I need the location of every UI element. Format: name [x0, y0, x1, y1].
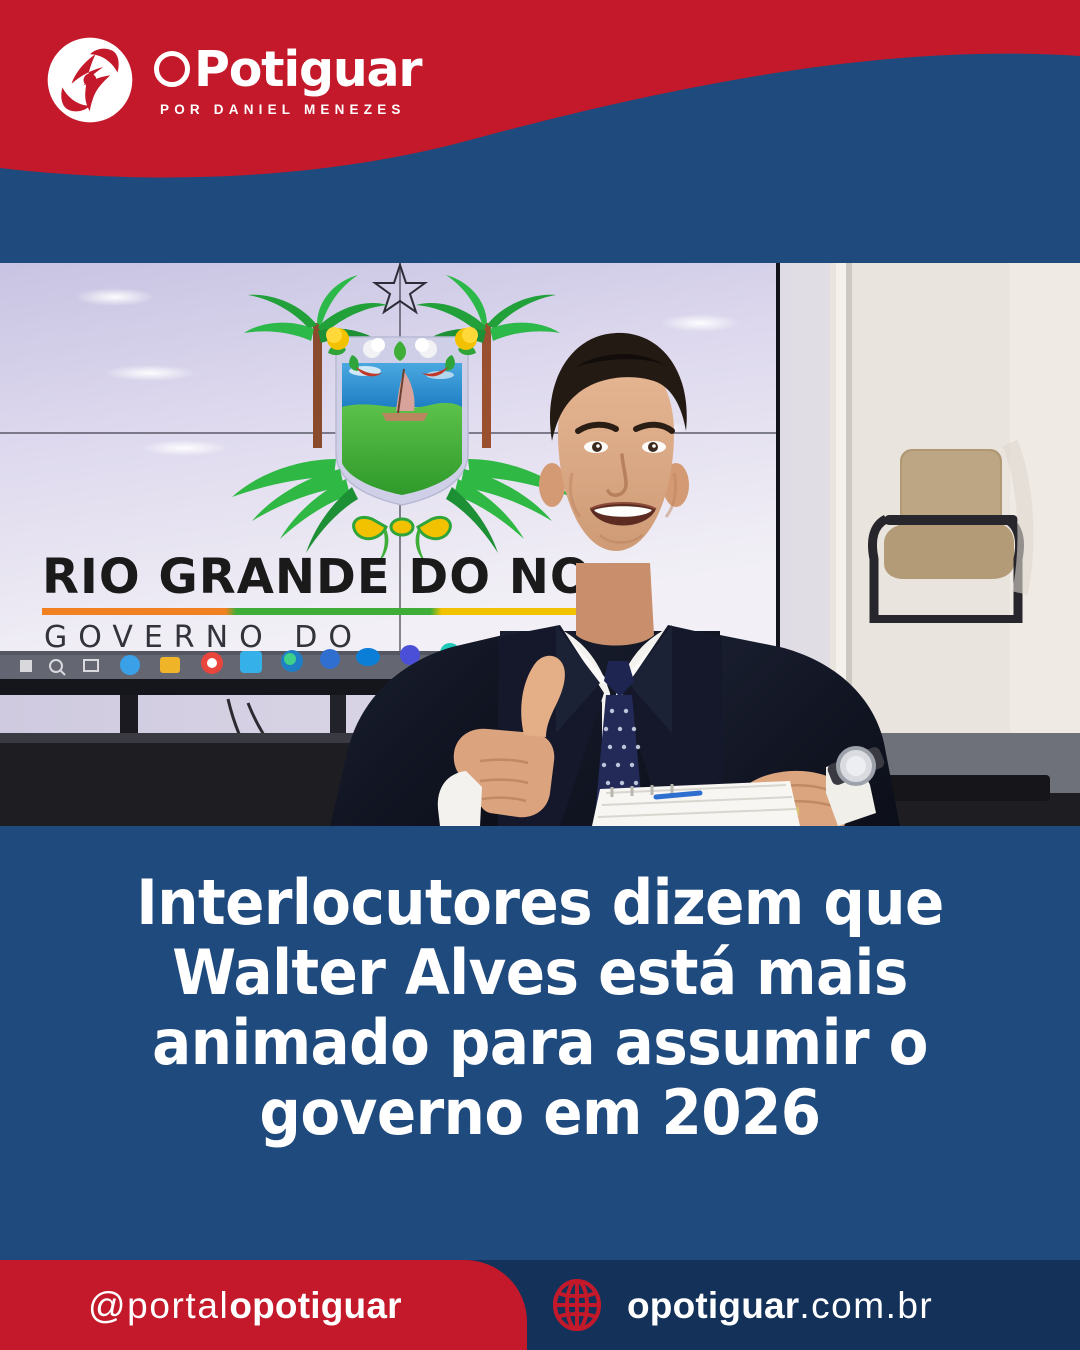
photo-illustration: RIO GRANDE DO NO GOVERNO DO: [0, 263, 1080, 826]
handle-prefix: @portal: [88, 1285, 229, 1326]
site-name: opotiguar: [627, 1285, 799, 1326]
header-band: Potiguar POR DANIEL MENEZES: [0, 0, 1080, 265]
article-photo: RIO GRANDE DO NO GOVERNO DO: [0, 263, 1080, 826]
wordmark-o-circle-icon: [154, 51, 190, 87]
website-panel[interactable]: opotiguar.com.br: [527, 1260, 1080, 1350]
brand-wordmark: Potiguar: [154, 45, 421, 93]
headline-area: Interlocutores dizem que Walter Alves es…: [0, 826, 1080, 1260]
opotiguar-flame-circle-icon: [44, 34, 136, 126]
social-media-card: Potiguar POR DANIEL MENEZES: [0, 0, 1080, 1350]
handle-name: opotiguar: [229, 1285, 401, 1326]
screen-subtitle-text: GOVERNO DO: [44, 620, 363, 655]
social-handle: @portalopotiguar: [88, 1287, 402, 1324]
site-tld: .com.br: [799, 1285, 933, 1326]
website-url: opotiguar.com.br: [627, 1287, 933, 1324]
brand-tagline: POR DANIEL MENEZES: [160, 102, 421, 117]
globe-icon: [552, 1278, 602, 1332]
brand-name: Potiguar: [194, 45, 421, 94]
screen-title-text: RIO GRANDE DO NO: [42, 549, 592, 605]
brand-text-block: Potiguar POR DANIEL MENEZES: [154, 43, 421, 117]
brand-logo[interactable]: Potiguar POR DANIEL MENEZES: [44, 34, 421, 126]
headline-text: Interlocutores dizem que Walter Alves es…: [68, 868, 1012, 1148]
social-handle-panel[interactable]: @portalopotiguar: [0, 1260, 527, 1350]
footer-bar: @portalopotiguar opotiguar.com.br: [0, 1260, 1080, 1350]
